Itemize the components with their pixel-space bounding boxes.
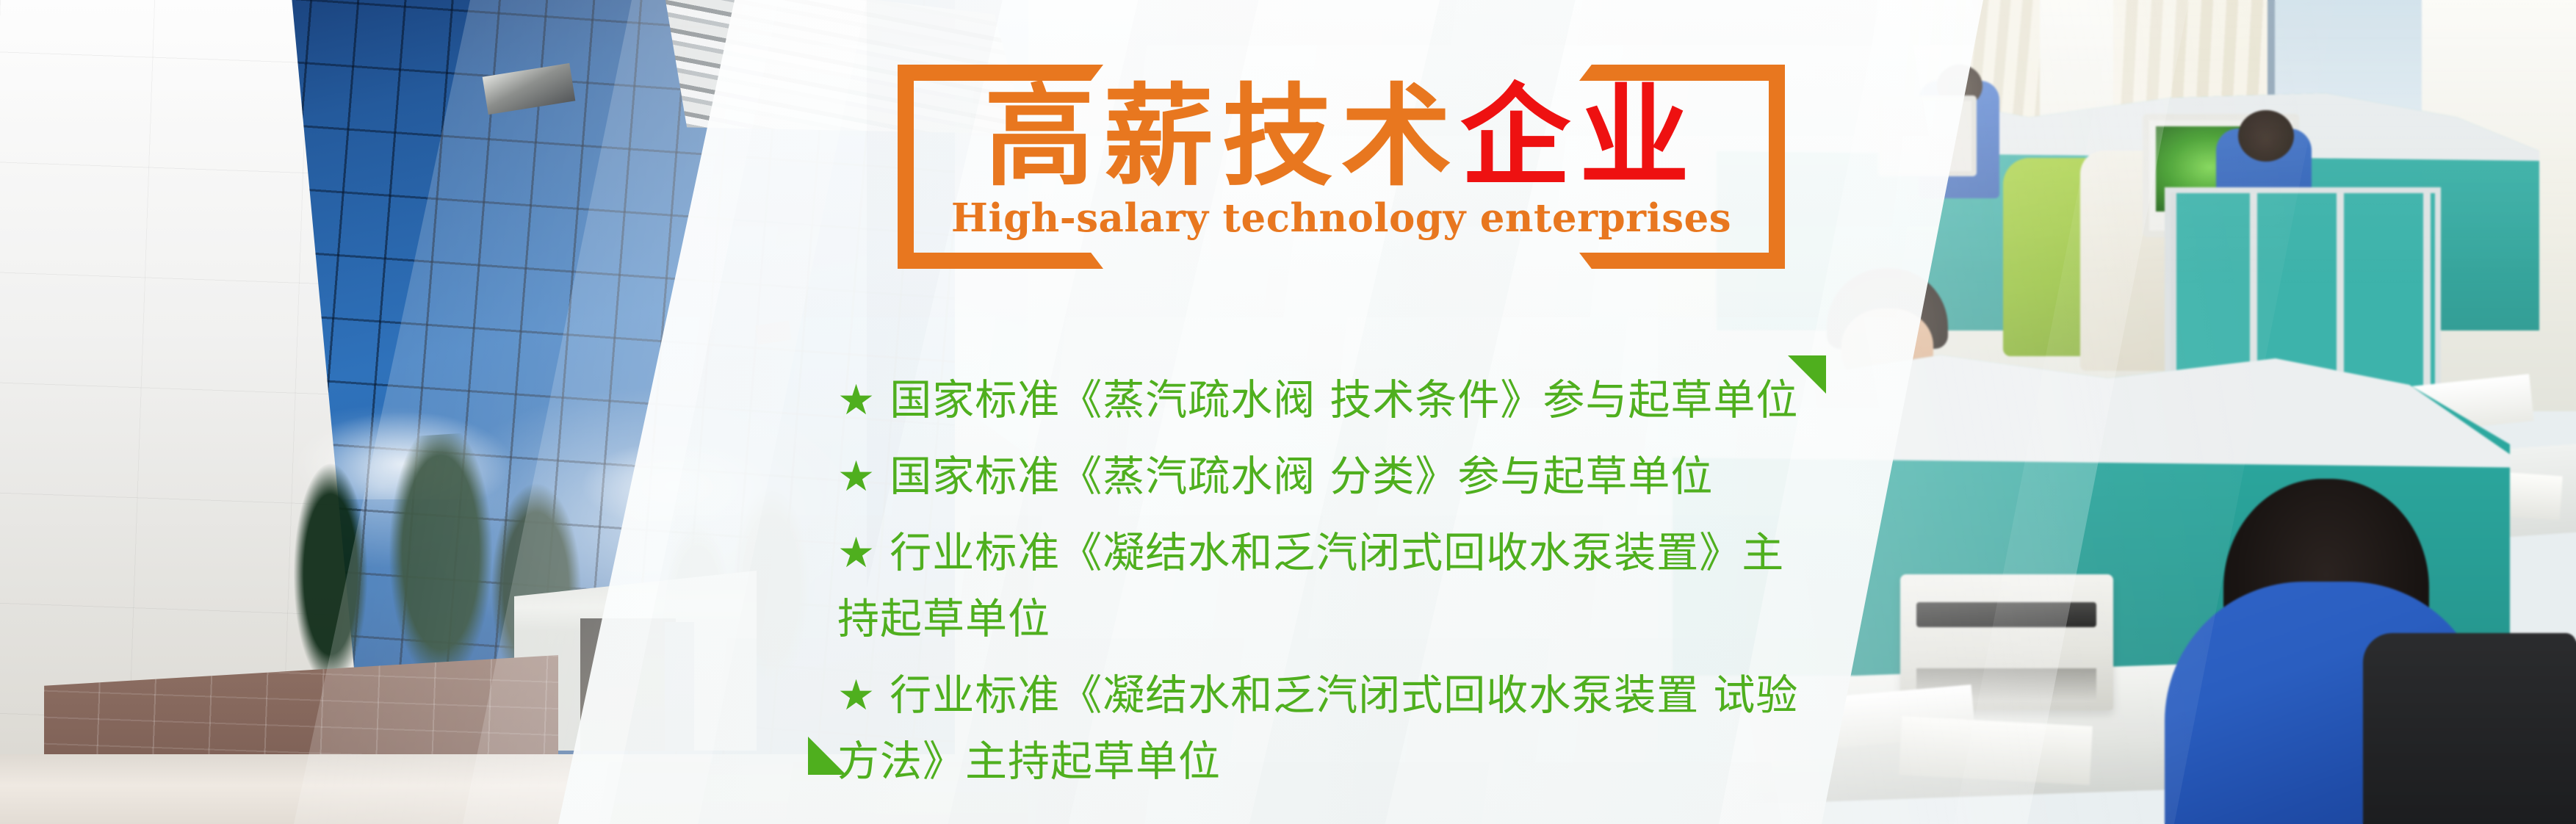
bracket-left-bottom-arm <box>898 253 1103 269</box>
company-banner: 高薪技术企业 High-salary technology enterprise… <box>0 0 2576 824</box>
list-item: ★ 行业标准《凝结水和乏汽闭式回收水泵装置》主持起草单位 <box>837 520 1814 652</box>
credentials-list: ★ 国家标准《蒸汽疏水阀 技术条件》参与起草单位 ★ 国家标准《蒸汽疏水阀 分类… <box>837 367 1814 805</box>
bracket-right-bottom-arm <box>1579 253 1785 269</box>
page-title: 高薪技术企业 <box>898 71 1785 205</box>
headline-red-part: 企业 <box>1460 73 1698 201</box>
banner-content: 高薪技术企业 High-salary technology enterprise… <box>0 0 2576 824</box>
list-item: ★ 国家标准《蒸汽疏水阀 技术条件》参与起草单位 <box>837 367 1814 433</box>
headline-orange-part: 高薪技术 <box>984 73 1460 201</box>
page-subtitle: High-salary technology enterprises <box>898 195 1785 241</box>
list-item: ★ 行业标准《凝结水和乏汽闭式回收水泵装置 试验方法》主持起草单位 <box>837 662 1814 795</box>
list-item: ★ 国家标准《蒸汽疏水阀 分类》参与起草单位 <box>837 444 1814 510</box>
